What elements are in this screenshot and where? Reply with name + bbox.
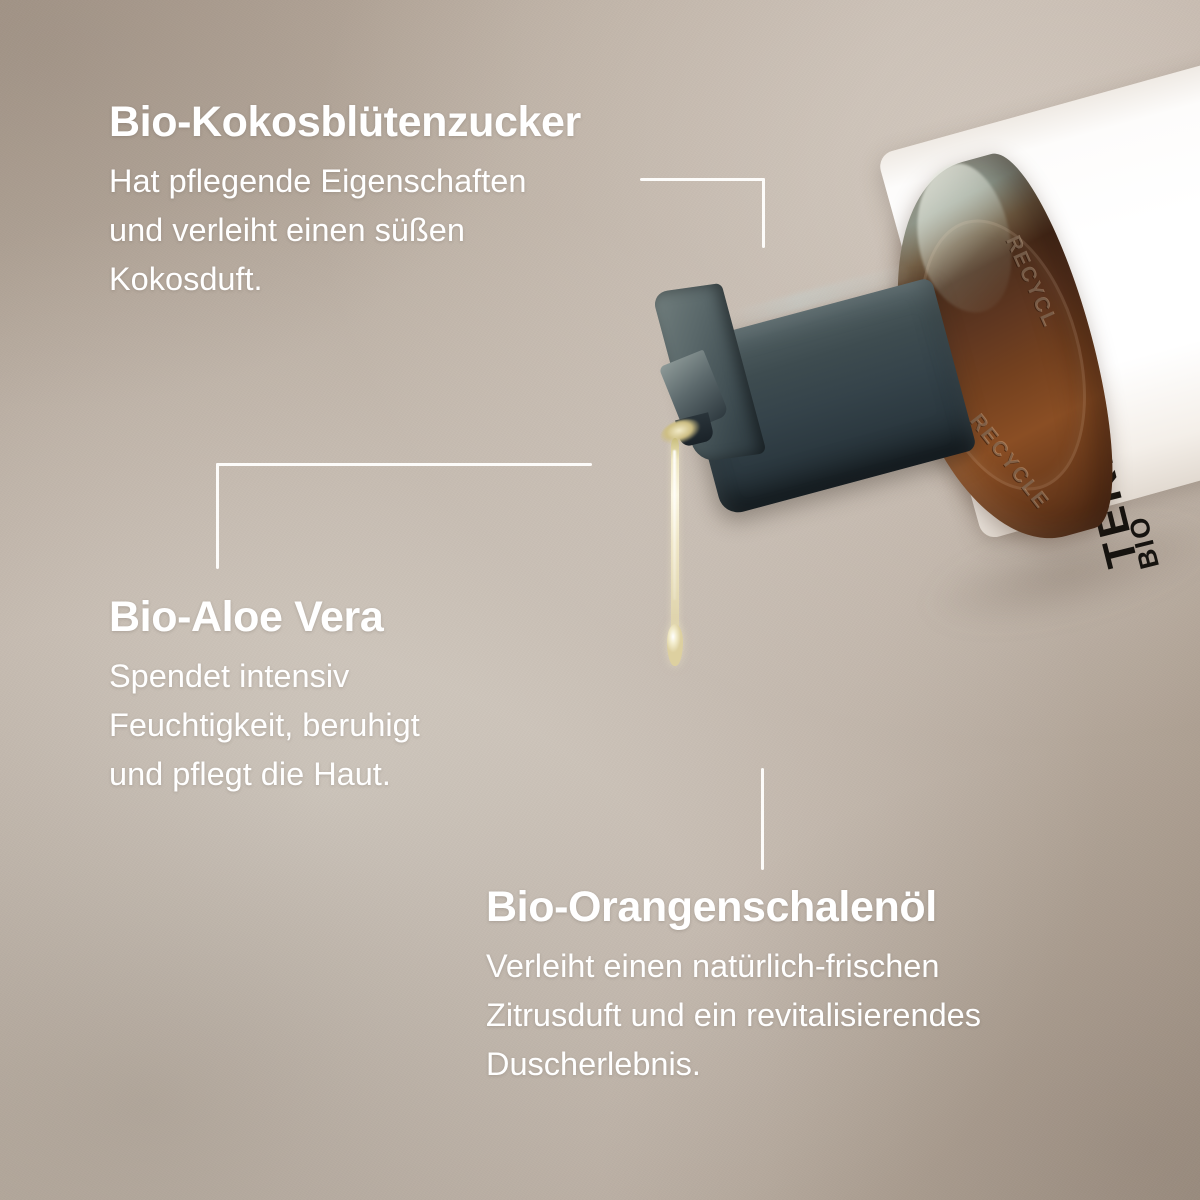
leader-line-horizontal-segment: [640, 178, 765, 181]
callout-title: Bio-Kokosblütenzucker: [109, 100, 581, 146]
leader-line-orangenschalenoel: [761, 768, 765, 870]
leader-line-horizontal-segment: [216, 463, 592, 466]
callout-title: Bio-Aloe Vera: [109, 595, 420, 641]
callout-title: Bio-Orangenschalenöl: [486, 885, 981, 931]
callout-body-line: Spendet intensiv: [109, 652, 420, 701]
leader-line-vertical-segment: [762, 178, 765, 248]
callout-body-line: Duscherlebnis.: [486, 1040, 981, 1089]
callout-orangenschalenoel: Bio-Orangenschalenöl Verleiht einen natü…: [486, 885, 981, 1090]
callout-body-line: Verleiht einen natürlich-frischen: [486, 942, 981, 991]
leader-line-aloe-vera: [216, 463, 594, 571]
leader-line-kokosbluetenzucker: [640, 178, 768, 250]
leader-line-vertical-segment: [216, 463, 219, 569]
infographic-canvas: TEKR BIO RECYCL RECYCLE Bio-Kokosblütenz…: [0, 0, 1200, 1200]
callout-body-line: und verleiht einen süßen: [109, 206, 581, 255]
callout-aloe-vera: Bio-Aloe Vera Spendet intensiv Feuchtigk…: [109, 595, 420, 800]
leader-line-vertical-segment: [761, 768, 764, 870]
callout-body-line: Zitrusduft und ein revitalisierendes: [486, 991, 981, 1040]
callout-body-line: Hat pflegende Eigenschaften: [109, 157, 581, 206]
callout-body: Spendet intensiv Feuchtigkeit, beruhigt …: [109, 652, 420, 800]
callout-body-line: Feuchtigkeit, beruhigt: [109, 701, 420, 750]
callout-body-line: und pflegt die Haut.: [109, 750, 420, 799]
callout-body: Hat pflegende Eigenschaften und verleiht…: [109, 157, 581, 305]
callout-body: Verleiht einen natürlich-frischen Zitrus…: [486, 942, 981, 1090]
callout-kokosbluetenzucker: Bio-Kokosblütenzucker Hat pflegende Eige…: [109, 100, 581, 305]
callout-body-line: Kokosduft.: [109, 255, 581, 304]
